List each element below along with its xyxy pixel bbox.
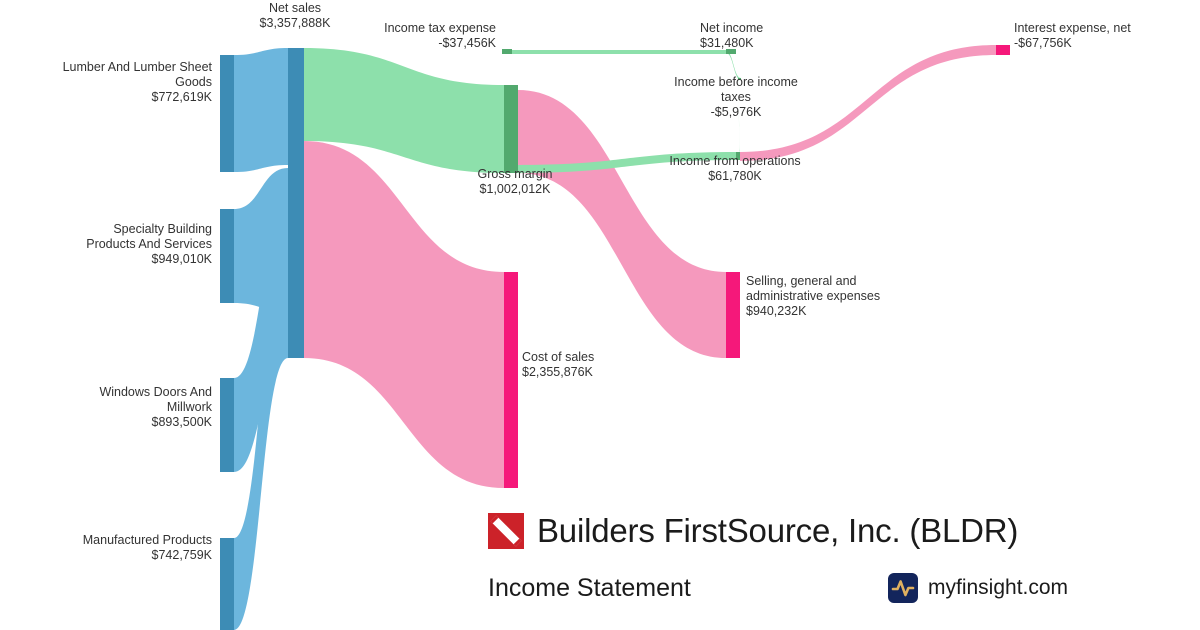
sankey-node-incomeops[interactable] bbox=[736, 152, 740, 160]
sankey-link-lumber-netsales bbox=[234, 48, 288, 172]
sankey-node-grossmargin[interactable] bbox=[504, 85, 518, 173]
sankey-node-incometax[interactable] bbox=[502, 49, 512, 54]
sankey-link-ibt-netincome bbox=[726, 51, 741, 80]
sankey-node-costofsales[interactable] bbox=[504, 272, 518, 488]
bldr-diagonal-logo-icon bbox=[488, 513, 524, 549]
company-name: Builders FirstSource, Inc. (BLDR) bbox=[537, 512, 1018, 550]
sankey-node-manufactured[interactable] bbox=[220, 538, 234, 630]
sankey-node-specialty[interactable] bbox=[220, 209, 234, 303]
brand-block[interactable]: myfinsight.com bbox=[888, 573, 1068, 603]
sankey-node-netincome[interactable] bbox=[726, 49, 736, 54]
sankey-link-netsales-costofsales bbox=[304, 141, 504, 488]
sankey-node-lumber[interactable] bbox=[220, 55, 234, 172]
brand-name: myfinsight.com bbox=[928, 576, 1068, 600]
sankey-node-ibt[interactable] bbox=[738, 78, 741, 80]
sankey-link-incomeops-ibt bbox=[738, 78, 740, 152]
sankey-node-sga[interactable] bbox=[726, 272, 740, 358]
footer: Builders FirstSource, Inc. (BLDR) Income… bbox=[488, 505, 1148, 615]
statement-row: Income Statement myfinsight.com bbox=[488, 563, 1148, 613]
sankey-node-interest[interactable] bbox=[996, 45, 1010, 55]
sankey-link-incomeops-interest bbox=[740, 45, 996, 161]
sankey-link-grossmargin-sga bbox=[518, 90, 726, 358]
sankey-link-incometax-netincome bbox=[512, 50, 726, 54]
sankey-node-netsales[interactable] bbox=[288, 48, 304, 358]
statement-title: Income Statement bbox=[488, 574, 888, 603]
company-row: Builders FirstSource, Inc. (BLDR) bbox=[488, 505, 1148, 557]
pulse-wave-icon bbox=[888, 573, 918, 603]
sankey-node-windows[interactable] bbox=[220, 378, 234, 472]
